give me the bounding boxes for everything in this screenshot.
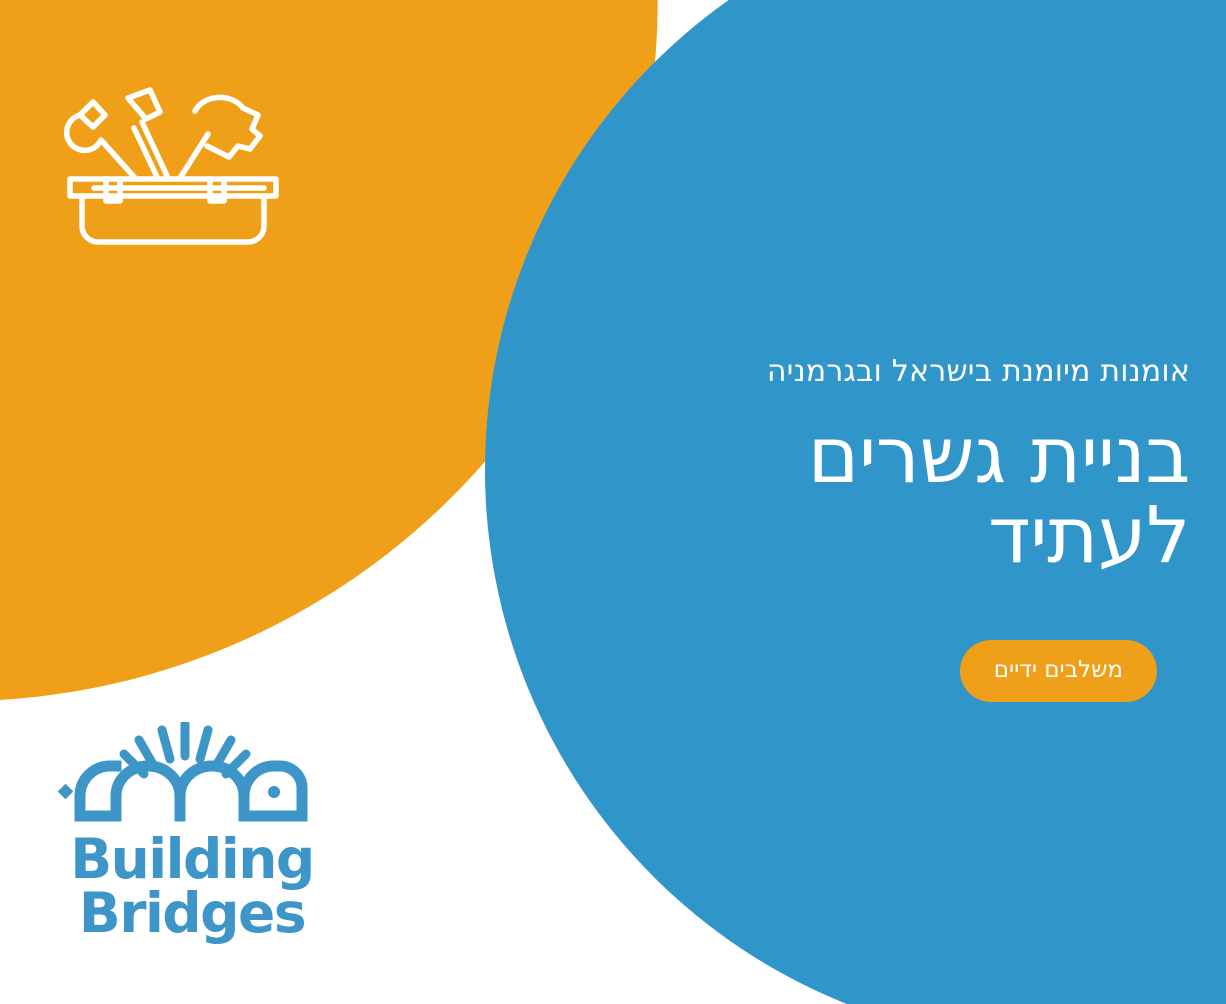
toolbox-with-tools-icon (58, 78, 288, 248)
logo-wordmark: Building Bridges (58, 832, 326, 940)
hammer-icon (195, 97, 260, 157)
building-bridges-logo[interactable]: Building Bridges (58, 722, 326, 942)
cta-button[interactable]: משלבים ידיים (960, 640, 1157, 702)
wrench-icon (67, 115, 136, 179)
hero-text-block: אומנות מיומנת בישראל ובגרמניה בניית גשרי… (570, 352, 1190, 576)
screwdriver-icon (128, 90, 160, 119)
hero-headline-line-1: בניית גשרים (570, 416, 1190, 496)
logo-dot-left (58, 784, 73, 800)
hero-headline-line-2: לעתיד (570, 496, 1190, 576)
cta-row: משלבים ידיים (960, 640, 1157, 702)
hero-headline: בניית גשרים לעתיד (570, 416, 1190, 576)
poster-canvas: אומנות מיומנת בישראל ובגרמניה בניית גשרי… (0, 0, 1226, 1004)
logo-wordmark-line-2: Bridges (58, 886, 326, 940)
logo-dot-right (268, 786, 280, 798)
building-bridges-arches-mark (58, 722, 326, 830)
hero-subtitle: אומנות מיומנת בישראל ובגרמניה (570, 352, 1190, 392)
logo-wordmark-line-1: Building (58, 832, 326, 886)
